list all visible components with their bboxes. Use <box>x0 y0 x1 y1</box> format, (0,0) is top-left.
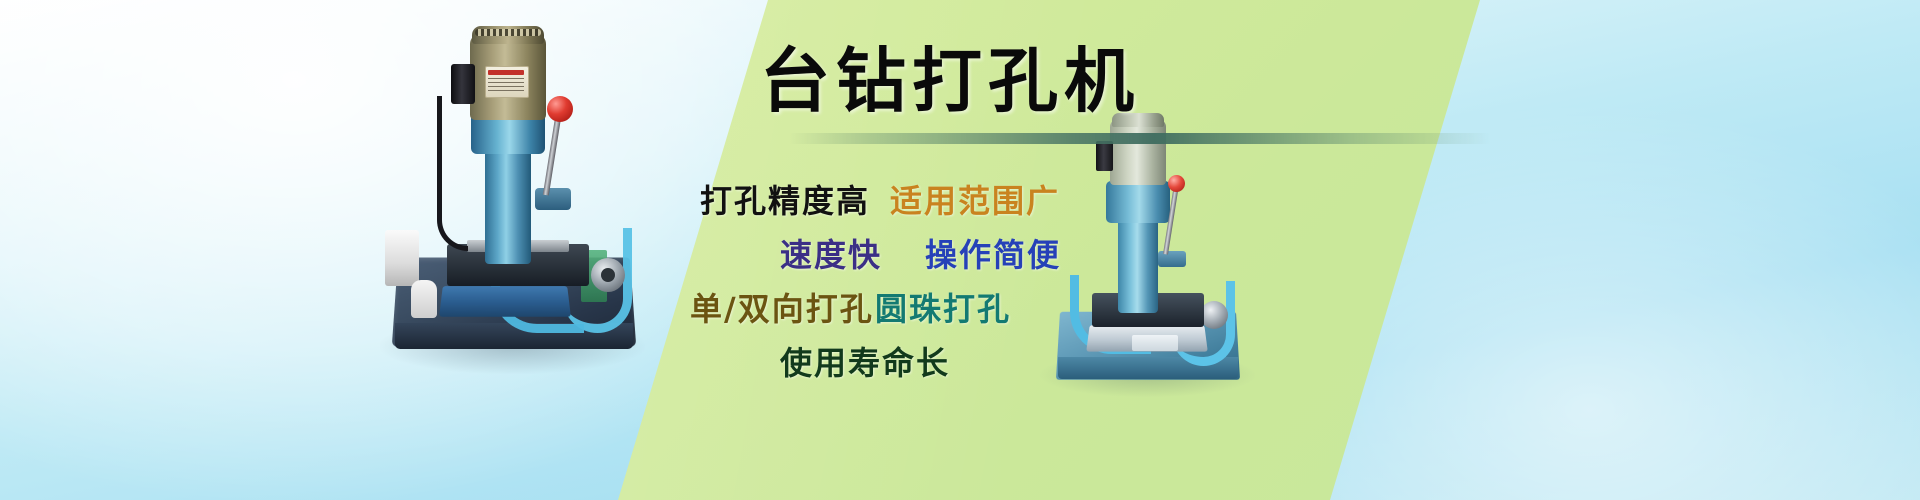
banner-title: 台钻打孔机 <box>760 38 1460 124</box>
control-box <box>385 230 419 286</box>
feature-item-6: 圆珠打孔 <box>875 284 1011 330</box>
motor-vent <box>475 29 541 36</box>
nameplate-red-band <box>488 70 524 75</box>
lever-ball-knob <box>547 96 573 122</box>
hand-wheel-hub <box>601 268 615 282</box>
lever-rod <box>543 118 561 196</box>
feature-list: 打孔精度高 适用范围广 速度快 操作简便 单/双向打孔 圆珠打孔 使用寿命长 <box>640 138 1460 388</box>
bench-drill-press-photo-left <box>375 18 650 368</box>
work-tray <box>439 286 571 317</box>
feature-item-7: 使用寿命长 <box>780 338 950 384</box>
feature-item-5: 单/双向打孔 <box>690 284 874 330</box>
switch-box <box>451 64 475 104</box>
promo-banner: 台钻打孔机 打孔精度高 适用范围广 速度快 操作简便 单/双向打孔 圆珠打孔 使… <box>0 0 1920 500</box>
power-cable <box>437 96 468 251</box>
nameplate-text-lines <box>488 78 524 92</box>
control-box-secondary <box>411 280 437 318</box>
feature-item-4: 操作简便 <box>925 230 1061 276</box>
feature-item-2: 适用范围广 <box>890 176 1060 222</box>
feature-item-3: 速度快 <box>780 230 882 276</box>
lever-hub <box>535 188 571 210</box>
feature-item-1: 打孔精度高 <box>700 176 870 222</box>
